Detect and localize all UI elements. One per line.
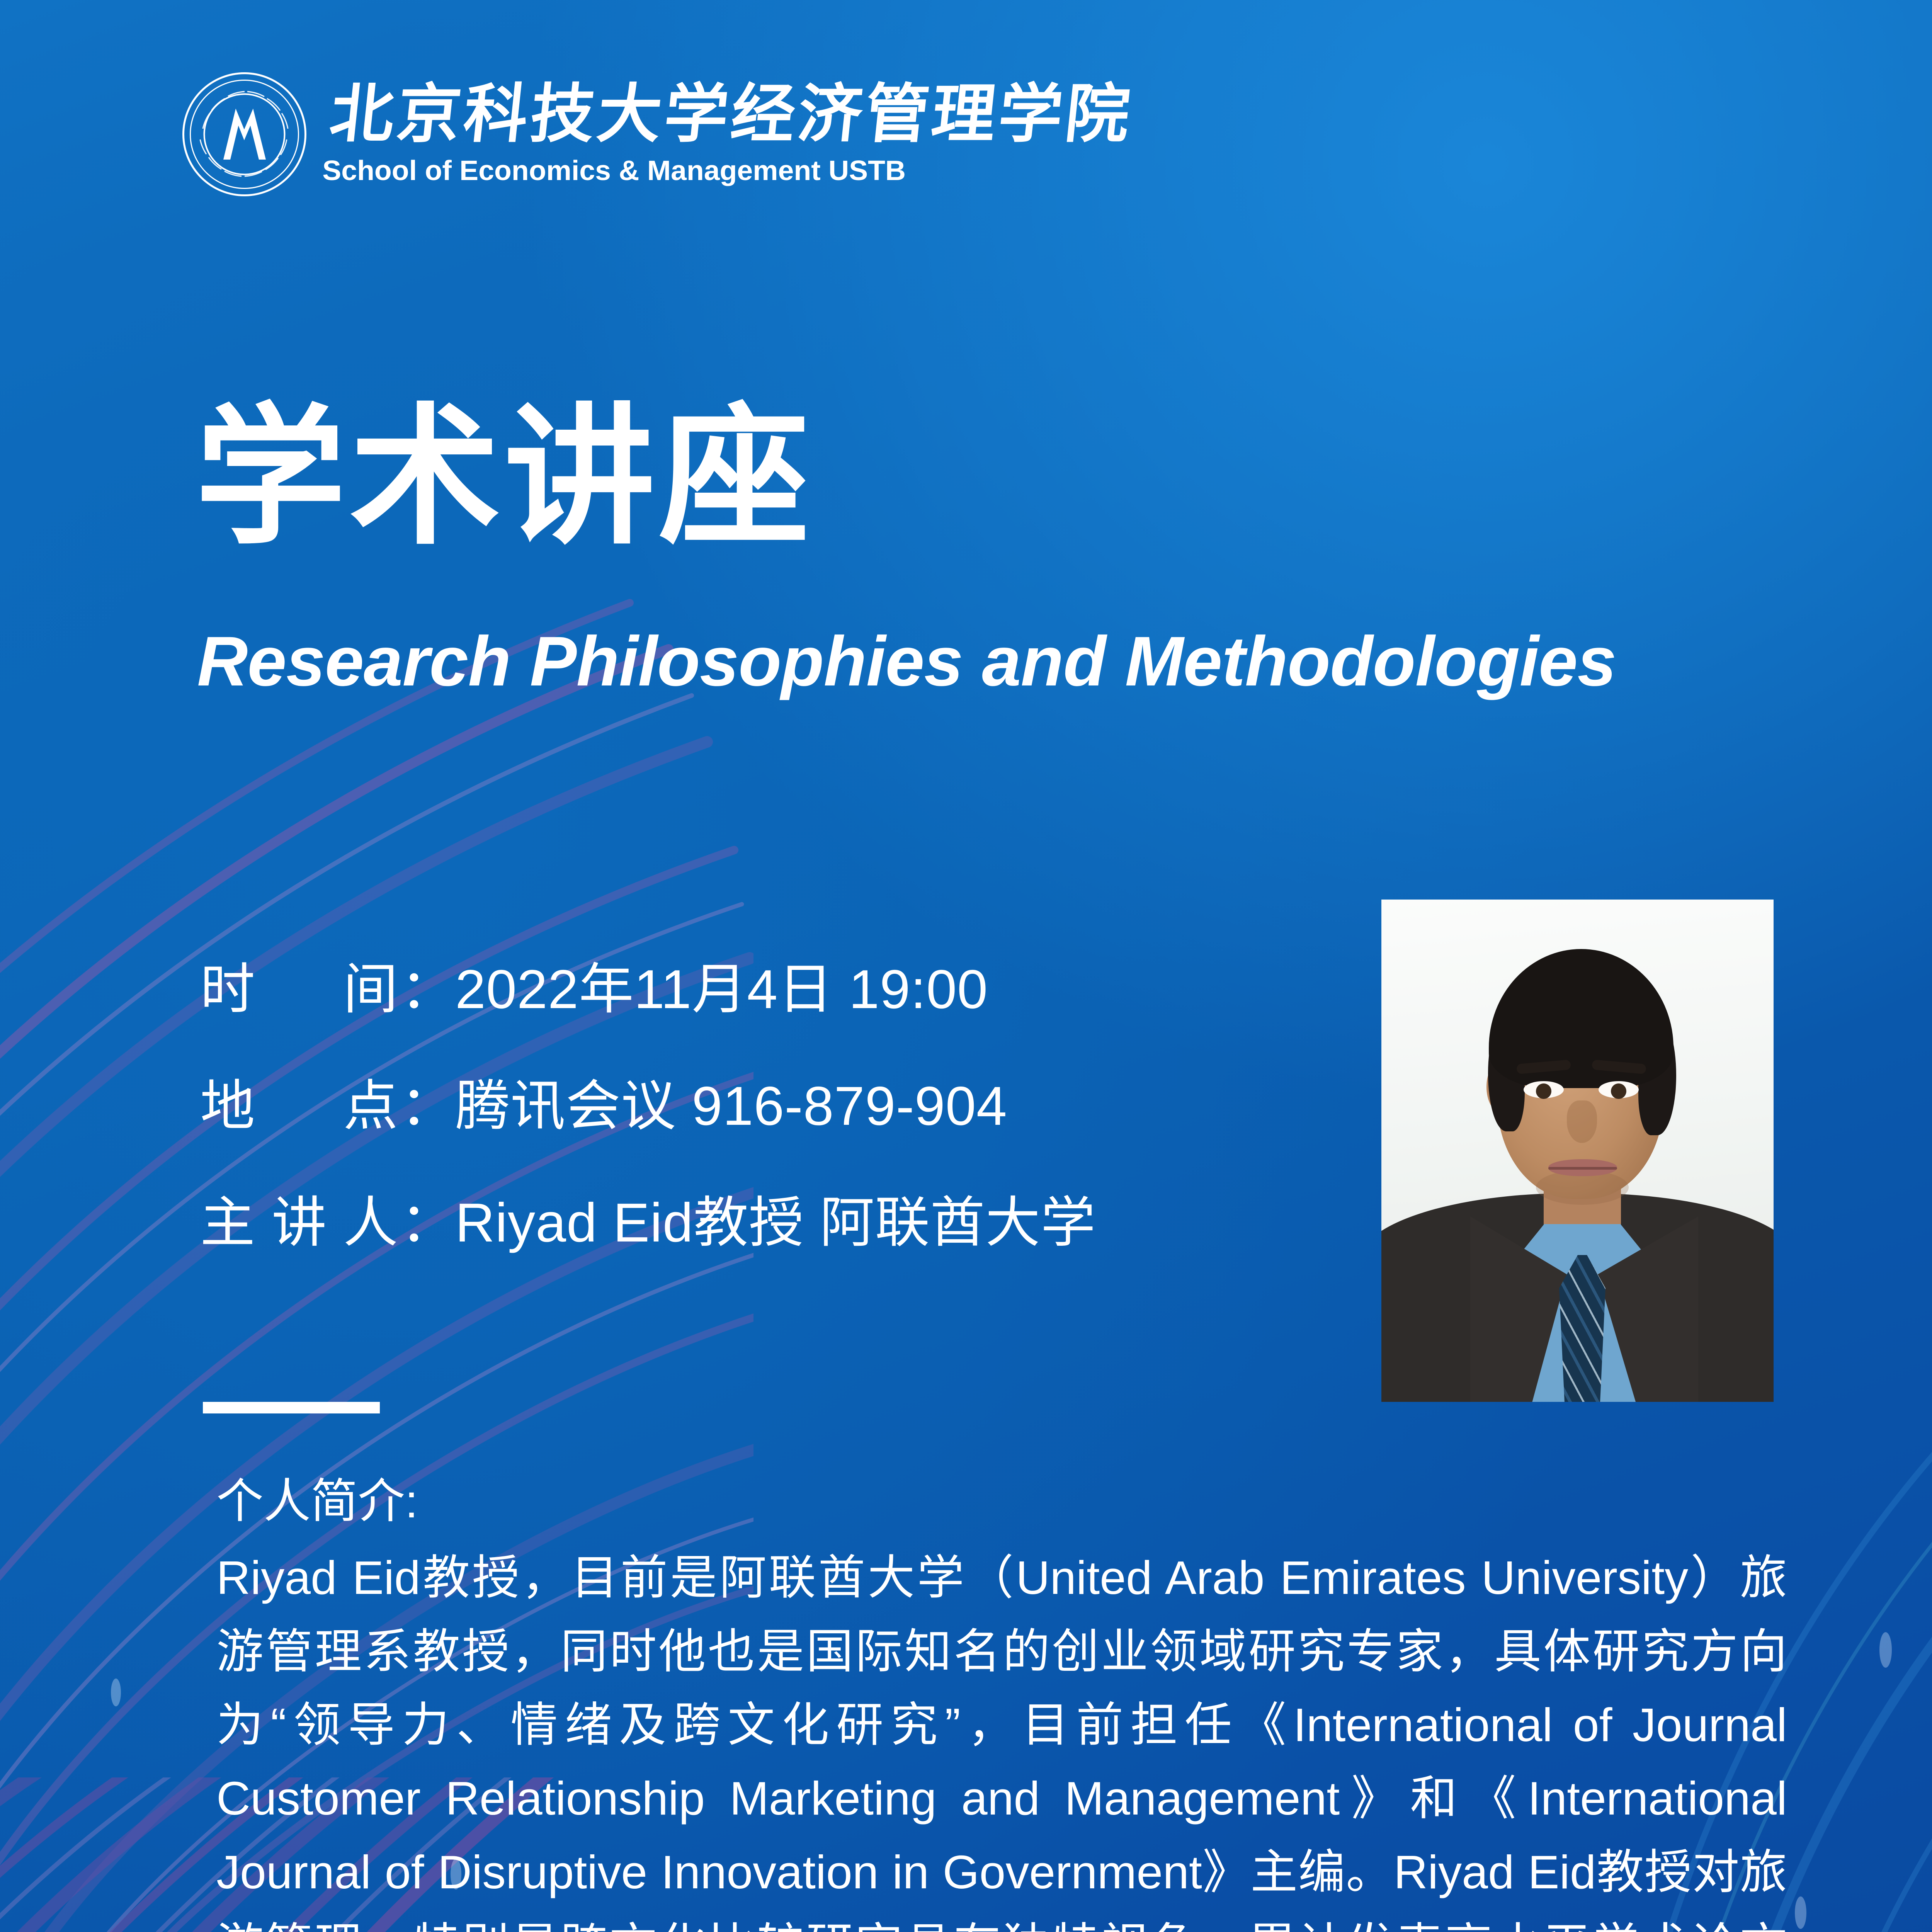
school-name-block: 北京科技大学经济管理学院 School of Economics & Manag… xyxy=(330,82,1133,187)
portrait-iris-left xyxy=(1536,1083,1551,1099)
event-info-list: 时 间： 2022年11月4日 19:00 地 点： 腾讯会议 916-879-… xyxy=(200,962,1321,1312)
info-row-location: 地 点： 腾讯会议 916-879-904 xyxy=(200,1079,1321,1134)
ustb-sem-seal-icon xyxy=(182,71,307,197)
info-value-location: 腾讯会议 916-879-904 xyxy=(455,1079,1007,1134)
school-name-en: School of Economics & Management USTB xyxy=(322,155,1141,187)
info-label-location: 地 点： xyxy=(200,1079,455,1134)
page-title-cn: 学术讲座 xyxy=(195,402,813,553)
portrait-iris-right xyxy=(1611,1083,1626,1099)
speaker-bio-block: 个人简介: Riyad Eid教授，目前是阿联酋大学（United Arab E… xyxy=(216,1464,1787,1932)
school-name-cn: 北京科技大学经济管理学院 xyxy=(327,82,1136,146)
info-label-speaker: 主 讲 人： xyxy=(200,1196,455,1250)
bio-heading: 个人简介: xyxy=(216,1464,1787,1538)
portrait-lip-line xyxy=(1548,1167,1617,1170)
seminar-poster: 北京科技大学经济管理学院 School of Economics & Manag… xyxy=(0,0,1932,1932)
speaker-portrait-photo xyxy=(1381,900,1774,1402)
info-row-time: 时 间： 2022年11月4日 19:00 xyxy=(200,962,1321,1017)
school-logo-block: 北京科技大学经济管理学院 School of Economics & Manag… xyxy=(182,71,1133,197)
info-label-time: 时 间： xyxy=(200,962,455,1017)
info-value-time: 2022年11月4日 19:00 xyxy=(455,962,988,1017)
info-underline-rule xyxy=(203,1402,380,1413)
page-subtitle-en: Research Philosophies and Methodologies xyxy=(197,626,1616,696)
portrait-necktie xyxy=(1559,1255,1605,1402)
bio-body-text: Riyad Eid教授，目前是阿联酋大学（United Arab Emirate… xyxy=(216,1541,1787,1932)
info-row-speaker: 主 讲 人： Riyad Eid教授 阿联酋大学 xyxy=(200,1196,1321,1250)
portrait-nose xyxy=(1567,1100,1597,1143)
info-value-speaker: Riyad Eid教授 阿联酋大学 xyxy=(455,1196,1096,1250)
